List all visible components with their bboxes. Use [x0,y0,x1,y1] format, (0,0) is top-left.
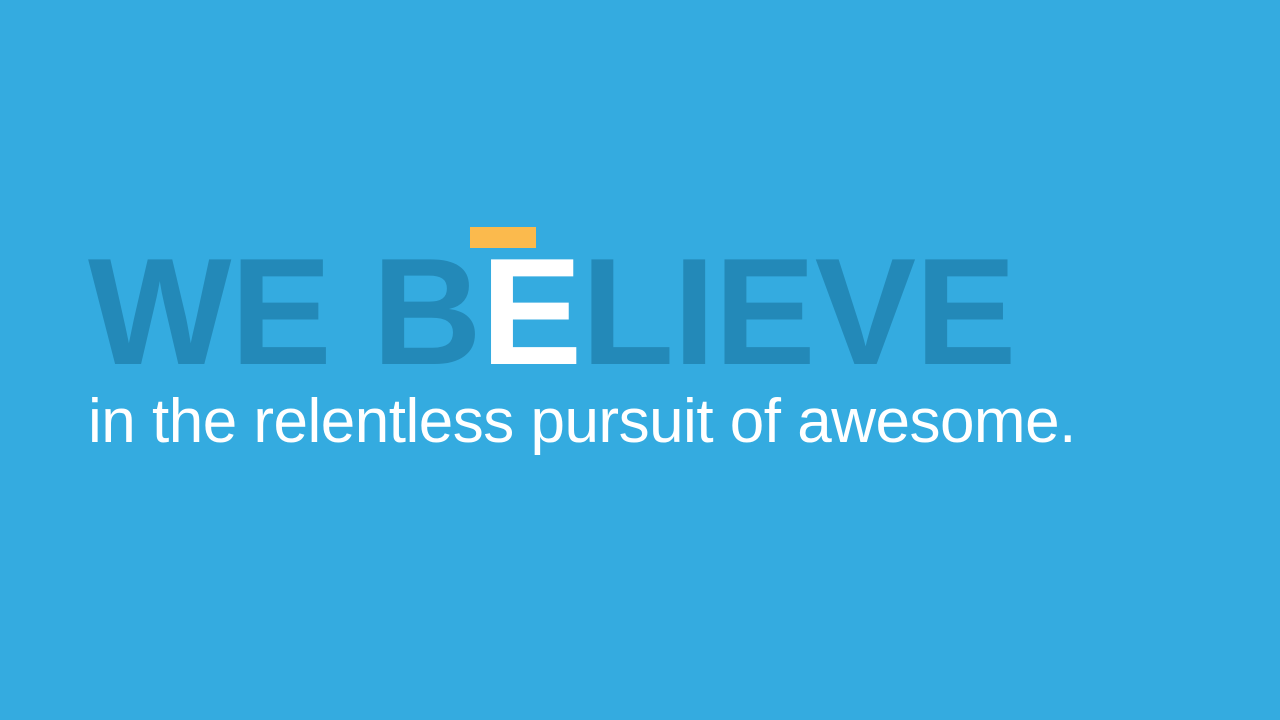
macron-bar-accent [470,227,536,248]
headline-lead-text: WE B [88,227,481,397]
page-title: WE BELIEVE [88,246,1188,378]
headline-highlight-text: E [481,227,581,397]
headline-block: WE BELIEVE [88,246,1188,378]
slide-canvas: WE BELIEVE in the relentless pursuit of … [0,0,1280,720]
subtitle: in the relentless pursuit of awesome. [88,386,1076,458]
headline-trail-text: LIEVE [581,227,1015,397]
footer: MOBĒ™ Confidential Property of MOBĒ, LLC… [0,640,1280,720]
